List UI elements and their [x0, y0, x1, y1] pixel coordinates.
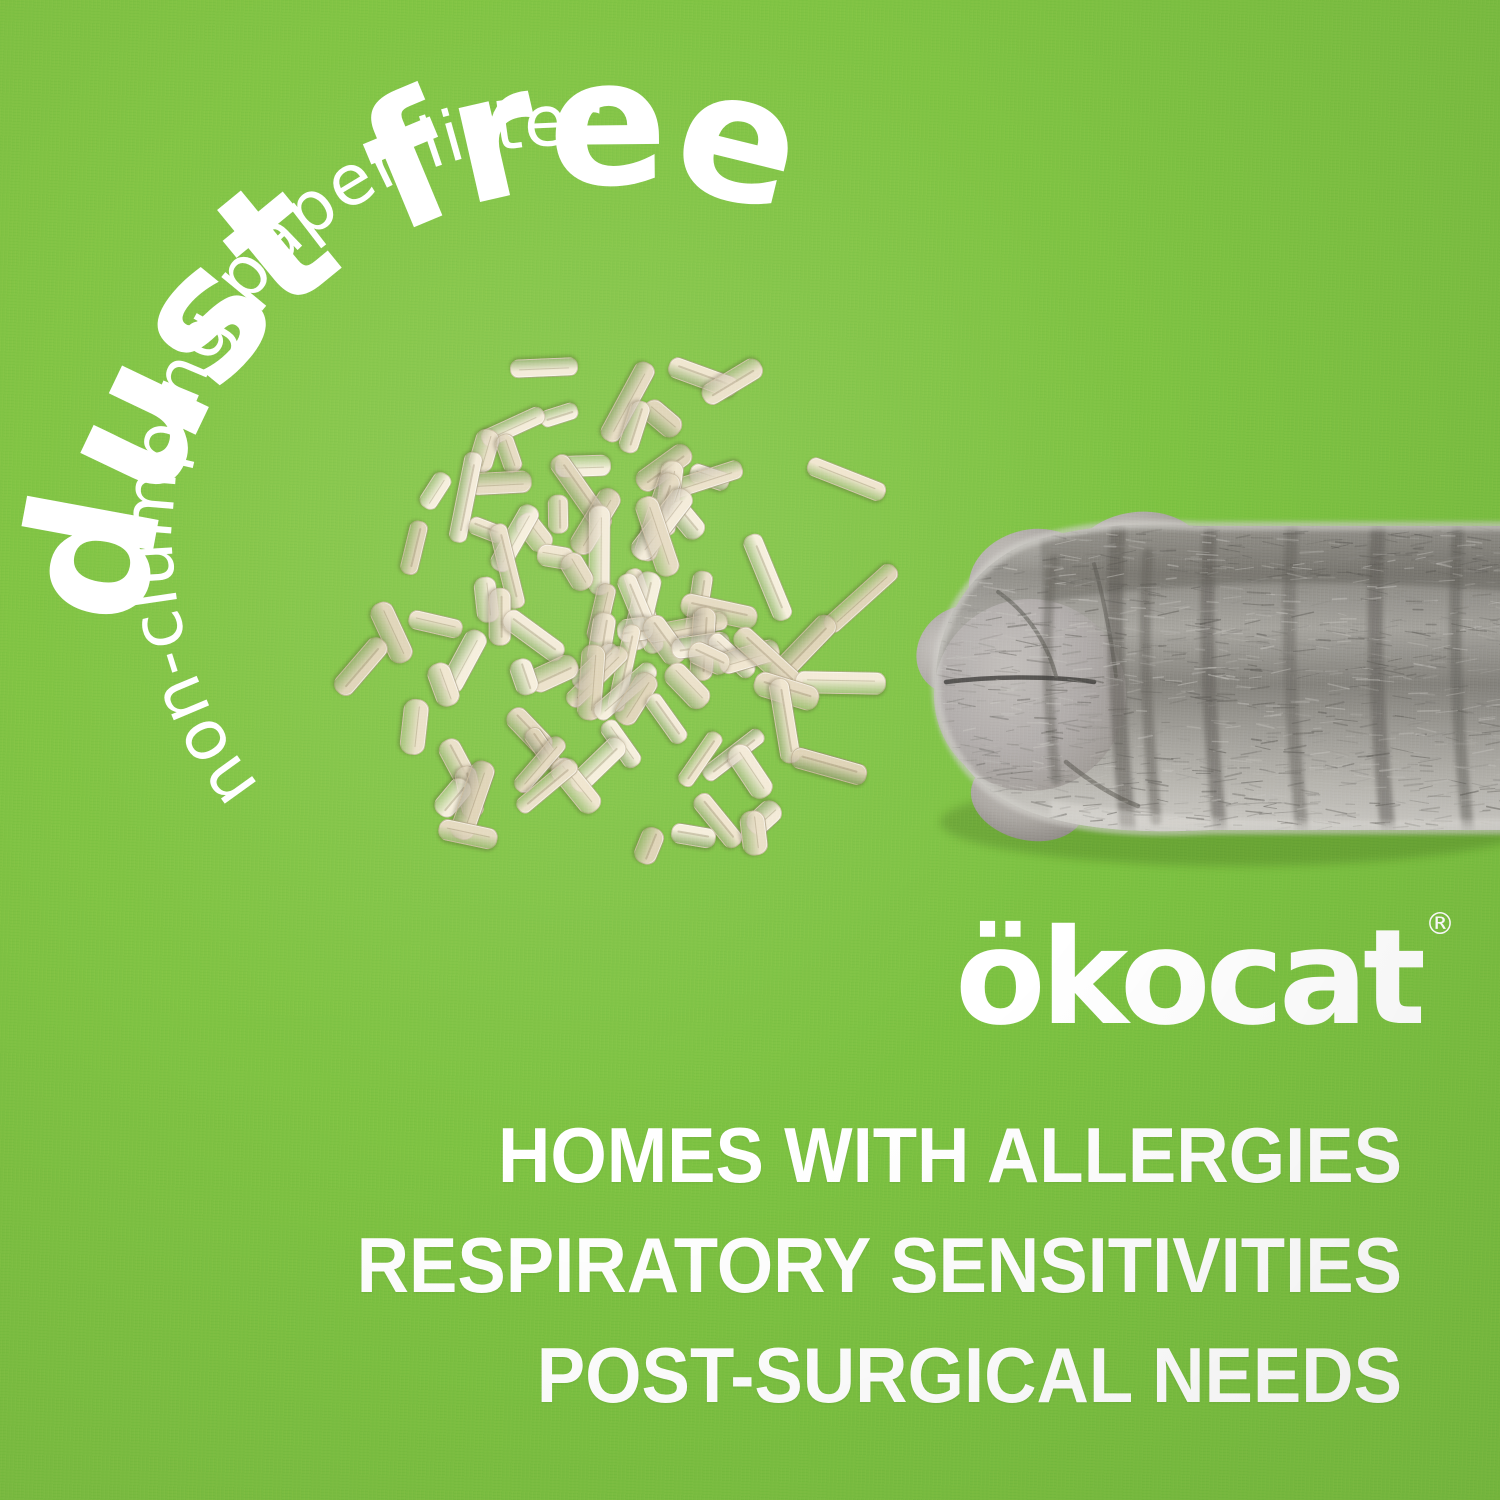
registered-trademark-icon: ® [1425, 907, 1455, 942]
brand-name: ökocat [955, 901, 1421, 1055]
claim-line-1: HOMES WITH ALLERGIES [98, 1100, 1402, 1210]
claim-line-3: POST-SURGICAL NEEDS [98, 1320, 1402, 1430]
claims-list: HOMES WITH ALLERGIES RESPIRATORY SENSITI… [0, 1100, 1500, 1430]
brand-logo-okocat: ökocat® [955, 912, 1451, 1044]
product-image: dust free non-clumping paper litter ökoc… [0, 0, 1500, 1500]
claim-line-2: RESPIRATORY SENSITIVITIES [98, 1210, 1402, 1320]
